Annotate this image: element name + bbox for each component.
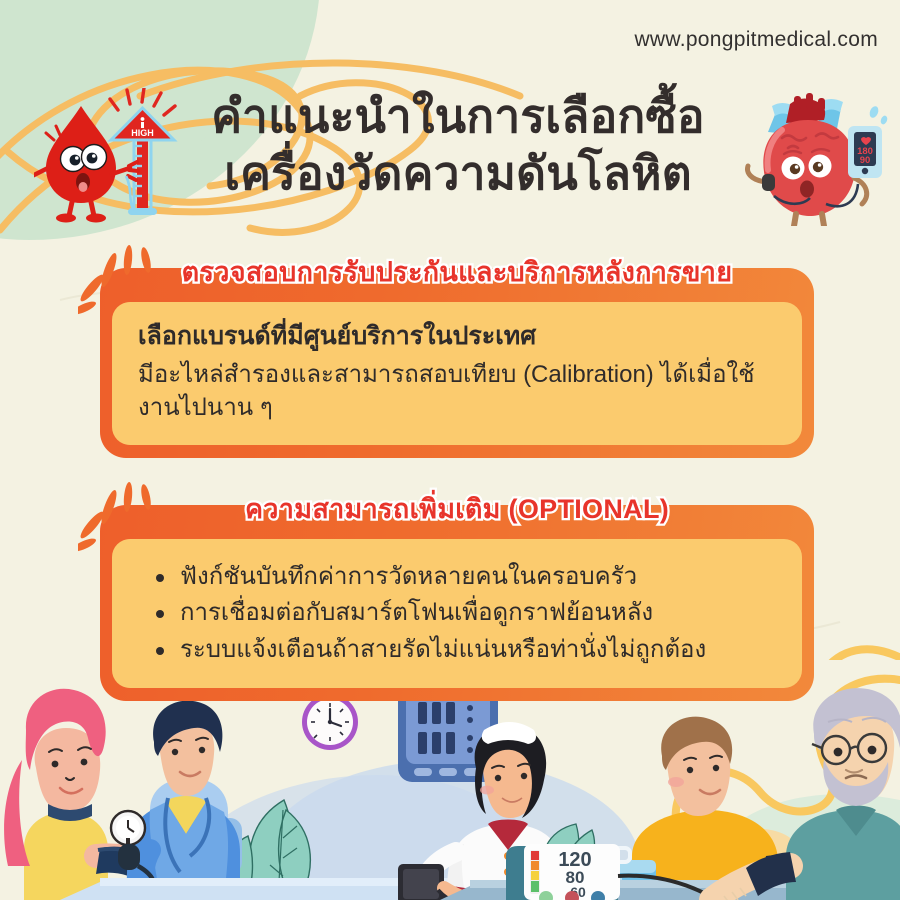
optional-feature-list: ฟังก์ชันบันทึกค่าการวัดหลายคนในครอบครัว … (138, 557, 776, 668)
optional-section-heading: ความสามารถเพิ่มเติม (OPTIONAL) (100, 487, 814, 530)
list-item: ระบบแจ้งเตือนถ้าสายรัดไม่แน่นหรือท่านั่ง… (152, 632, 776, 668)
list-item: ฟังก์ชันบันทึกค่าการวัดหลายคนในครอบครัว (152, 559, 776, 595)
list-item: การเชื่อมต่อกับสมาร์ตโฟนเพื่อดูกราฟย้อนห… (152, 595, 776, 631)
warranty-card-body: มีอะไหล่สำรองและสามารถสอบเทียบ (Calibrat… (138, 358, 776, 425)
optional-features-card: ความสามารถเพิ่มเติม (OPTIONAL) ฟังก์ชันบ… (100, 505, 814, 701)
title-line-2: เครื่องวัดความดันโลหิต (178, 145, 738, 202)
optional-card-inner: ฟังก์ชันบันทึกค่าการวัดหลายคนในครอบครัว … (112, 539, 802, 688)
warranty-card-inner: เลือกแบรนด์ที่มีศูนย์บริการในประเทศ มีอะ… (112, 302, 802, 445)
wall-clock-icon (302, 694, 358, 750)
blood-drop-character-icon: HIGH (34, 88, 184, 227)
svg-text:HIGH: HIGH (131, 128, 154, 138)
page-title: คำแนะนำในการเลือกซื้อ เครื่องวัดความดันโ… (178, 88, 738, 201)
warranty-card-title: เลือกแบรนด์ที่มีศูนย์บริการในประเทศ (138, 320, 776, 354)
warranty-section-heading: ตรวจสอบการรับประกันและบริการหลังการขาย (100, 250, 814, 293)
infographic-poster: www.pongpitmedical.com คำแนะนำในการเลือก… (0, 0, 900, 900)
website-url: www.pongpitmedical.com (634, 28, 878, 52)
heart-character-icon: 180 90 (738, 86, 888, 230)
section-warranty: ตรวจสอบการรับประกันและบริการหลังการขาย เ… (100, 268, 814, 458)
title-line-1: คำแนะนำในการเลือกซื้อ (178, 88, 738, 145)
heart-device-diastolic: 90 (860, 155, 871, 166)
section-optional-features: ความสามารถเพิ่มเติม (OPTIONAL) ฟังก์ชันบ… (100, 505, 814, 701)
warranty-card: ตรวจสอบการรับประกันและบริการหลังการขาย เ… (100, 268, 814, 458)
